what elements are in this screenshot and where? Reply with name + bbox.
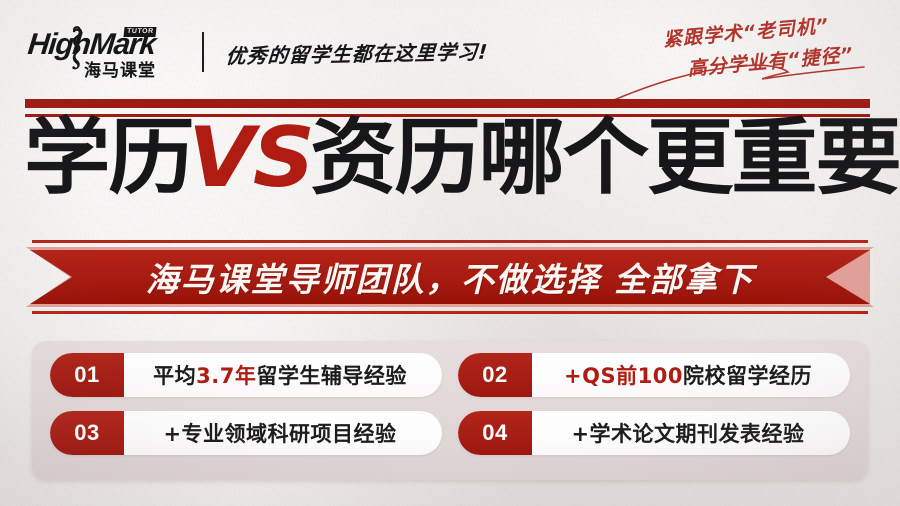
feature-label: +学术论文期刊发表经验	[532, 411, 850, 455]
ribbon-body: 海马课堂导师团队，不做选择 全部拿下	[30, 250, 870, 304]
logo-chinese-name: 海马课堂	[84, 56, 156, 81]
feature-item-04[interactable]: 04 +学术论文期刊发表经验	[458, 411, 850, 455]
feature-text-prefix: 平均	[153, 360, 196, 390]
main-headline: 学历 VS 资历哪个更重要	[24, 112, 880, 204]
ribbon-accent-line-top	[32, 240, 868, 243]
brand-logo[interactable]: HighMark TUTOR 海马课堂	[28, 26, 168, 78]
feature-item-03[interactable]: 03 +专业领域科研项目经验	[50, 411, 442, 455]
feature-number-badge: 04	[458, 411, 532, 455]
feature-text-highlight: +QS前100	[564, 360, 683, 390]
feature-label: +QS前100院校留学经历	[532, 353, 850, 397]
headline-rule-thick	[25, 99, 870, 108]
headline-vs: VS	[186, 115, 315, 201]
promo-banner: HighMark TUTOR 海马课堂 优秀的留学生都在这里学习! 紧跟学术“老…	[0, 0, 900, 506]
feature-text-suffix: 院校留学经历	[683, 360, 812, 390]
feature-number-badge: 01	[50, 353, 124, 397]
ribbon-banner: 海马课堂导师团队，不做选择 全部拿下	[26, 240, 874, 314]
feature-number-badge: 02	[458, 353, 532, 397]
logo-tutor-badge: TUTOR	[123, 27, 157, 37]
header-tagline: 优秀的留学生都在这里学习!	[224, 35, 489, 69]
feature-label: +专业领域科研项目经验	[124, 411, 442, 455]
feature-text-suffix: +学术论文期刊发表经验	[571, 418, 804, 448]
feature-item-01[interactable]: 01 平均3.7年留学生辅导经验	[50, 353, 442, 397]
feature-number-badge: 03	[50, 411, 124, 455]
header-divider	[202, 32, 204, 72]
feature-text-suffix: +专业领域科研项目经验	[163, 418, 396, 448]
feature-list: 01 平均3.7年留学生辅导经验 02 +QS前100院校留学经历 03 +专业…	[32, 353, 868, 455]
header: HighMark TUTOR 海马课堂 优秀的留学生都在这里学习!	[28, 24, 488, 80]
feature-item-02[interactable]: 02 +QS前100院校留学经历	[458, 353, 850, 397]
headline-part-2: 资历哪个更重要	[310, 115, 900, 201]
ribbon-accent-line-bottom	[32, 311, 868, 314]
feature-text-suffix: 留学生辅导经验	[256, 360, 407, 390]
ribbon-text: 海马课堂导师团队，不做选择 全部拿下	[146, 253, 755, 301]
feature-label: 平均3.7年留学生辅导经验	[124, 353, 442, 397]
top-right-slogan: 紧跟学术“老司机” 高分学业有“捷径”	[661, 11, 832, 83]
headline-part-1: 学历	[24, 115, 192, 201]
feature-text-highlight: 3.7年	[196, 360, 256, 390]
